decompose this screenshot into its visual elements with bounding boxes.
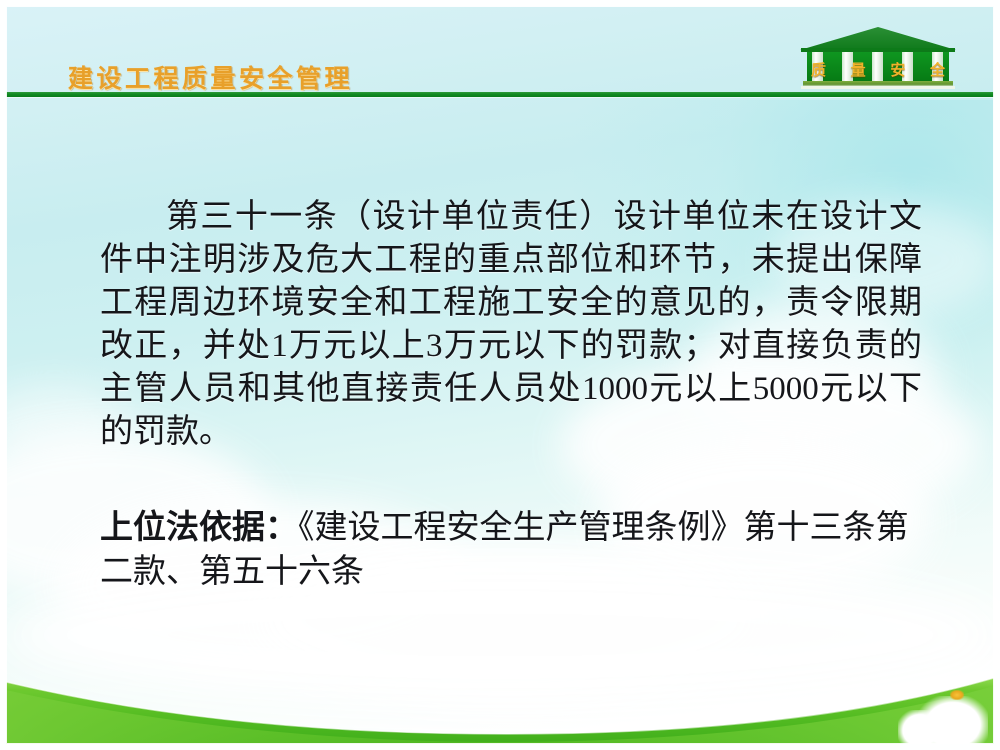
flower-decoration <box>950 690 964 700</box>
grass-field-decoration <box>6 624 994 744</box>
page-title: 建设工程质量安全管理 <box>68 59 353 95</box>
header-divider <box>6 92 994 97</box>
legal-basis-label: 上位法依据： <box>100 510 298 546</box>
slide-body: 第三十一条（设计单位责任）设计单位未在设计文件中注明涉及危大工程的重点部位和环节… <box>100 196 922 594</box>
temple-building-icon <box>799 26 957 92</box>
legal-basis-paragraph: 上位法依据：《建设工程安全生产管理条例》第十三条第二款、第五十六条 <box>100 506 922 594</box>
grass-shape-icon <box>6 624 994 744</box>
cloud-decoration <box>898 710 942 744</box>
quality-safety-logo: 质 量 安 全 <box>799 26 957 92</box>
article-paragraph: 第三十一条（设计单位责任）设计单位未在设计文件中注明涉及危大工程的重点部位和环节… <box>100 196 922 454</box>
slide-canvas: 建设工程质量安全管理 <box>0 0 1000 750</box>
